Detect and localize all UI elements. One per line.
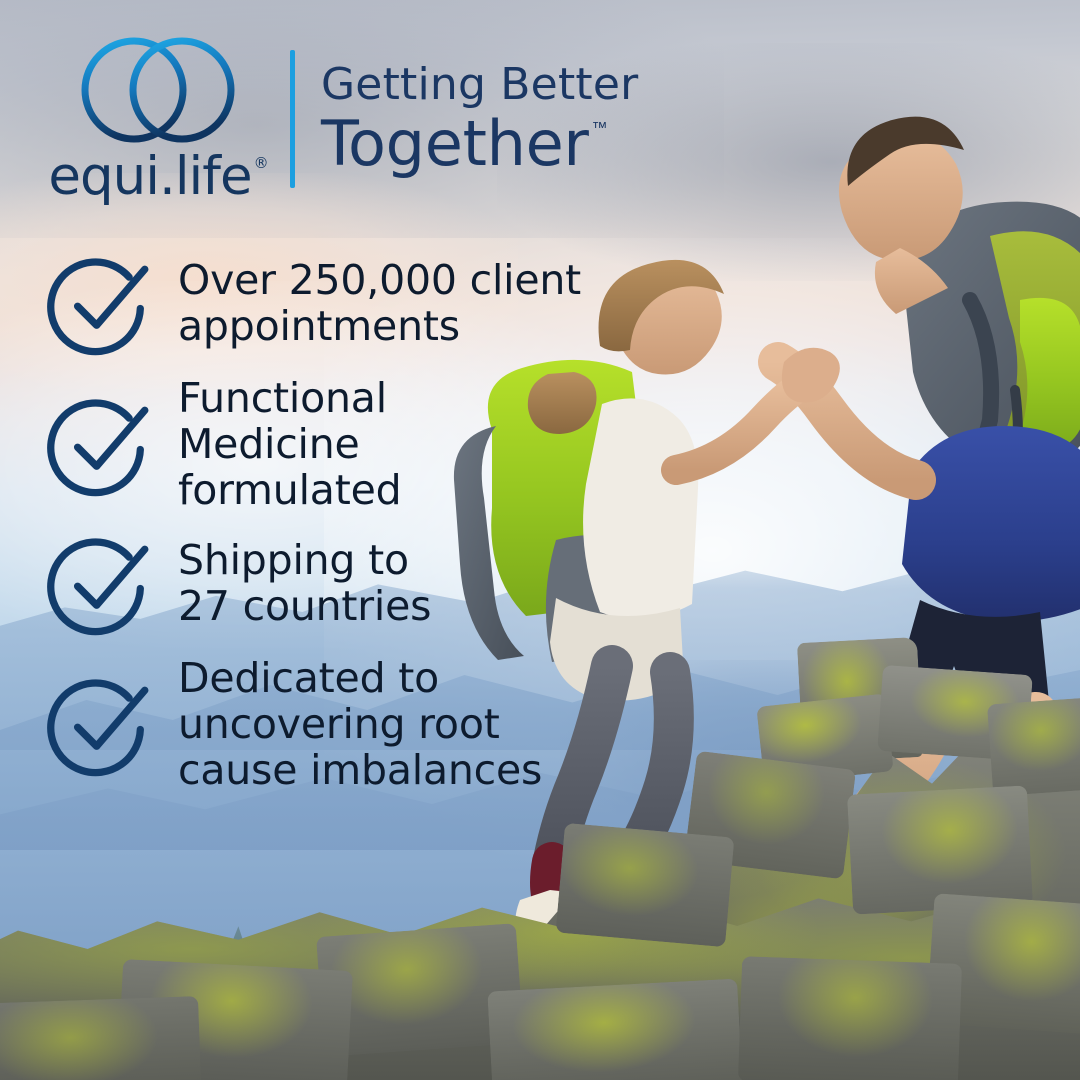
marketing-graphic: equi.life ® Getting Better Together ™ Ov… xyxy=(0,0,1080,1080)
feature-line: appointments xyxy=(178,304,581,350)
tagline-line-2: Together xyxy=(321,113,589,175)
two-interlocking-circles-icon xyxy=(78,34,238,146)
feature-item-appointments: Over 250,000 client appointments xyxy=(44,248,644,360)
boulder xyxy=(487,979,742,1080)
feature-item-functional-medicine: Functional Medicine formulated xyxy=(44,376,644,514)
registered-mark: ® xyxy=(254,156,268,171)
feature-item-shipping: Shipping to 27 countries xyxy=(44,528,644,640)
feature-line: Shipping to xyxy=(178,538,431,584)
feature-item-root-cause: Dedicated to uncovering root cause imbal… xyxy=(44,656,644,794)
check-circle-icon xyxy=(44,389,156,501)
feature-line: Functional xyxy=(178,376,401,422)
boulder xyxy=(987,696,1080,797)
feature-text: Over 250,000 client appointments xyxy=(178,258,581,350)
tagline-line-2-wrap: Together ™ xyxy=(321,113,638,175)
feature-text: Functional Medicine formulated xyxy=(178,376,401,514)
brand-header: equi.life ® Getting Better Together ™ xyxy=(44,34,638,203)
wordmark: equi.life ® xyxy=(48,150,267,203)
feature-text: Shipping to 27 countries xyxy=(178,538,431,630)
check-circle-icon xyxy=(44,248,156,360)
feature-line: Dedicated to xyxy=(178,656,542,702)
vertical-divider xyxy=(290,50,295,188)
check-circle-icon xyxy=(44,669,156,781)
feature-line: 27 countries xyxy=(178,584,431,630)
boulder xyxy=(738,956,962,1080)
feature-line: Over 250,000 client xyxy=(178,258,581,304)
wordmark-text: equi.life xyxy=(48,150,251,203)
logo-lockup: equi.life ® xyxy=(44,34,272,203)
boulder xyxy=(0,996,202,1080)
feature-list: Over 250,000 client appointments Functio… xyxy=(44,248,644,815)
feature-text: Dedicated to uncovering root cause imbal… xyxy=(178,656,542,794)
tagline-line-1: Getting Better xyxy=(321,63,638,107)
boulder xyxy=(556,823,735,947)
trademark-mark: ™ xyxy=(592,121,608,137)
tagline: Getting Better Together ™ xyxy=(321,63,638,175)
feature-line: Medicine xyxy=(178,422,401,468)
feature-line: cause imbalances xyxy=(178,748,542,794)
check-circle-icon xyxy=(44,528,156,640)
feature-line: formulated xyxy=(178,468,401,514)
feature-line: uncovering root xyxy=(178,702,542,748)
